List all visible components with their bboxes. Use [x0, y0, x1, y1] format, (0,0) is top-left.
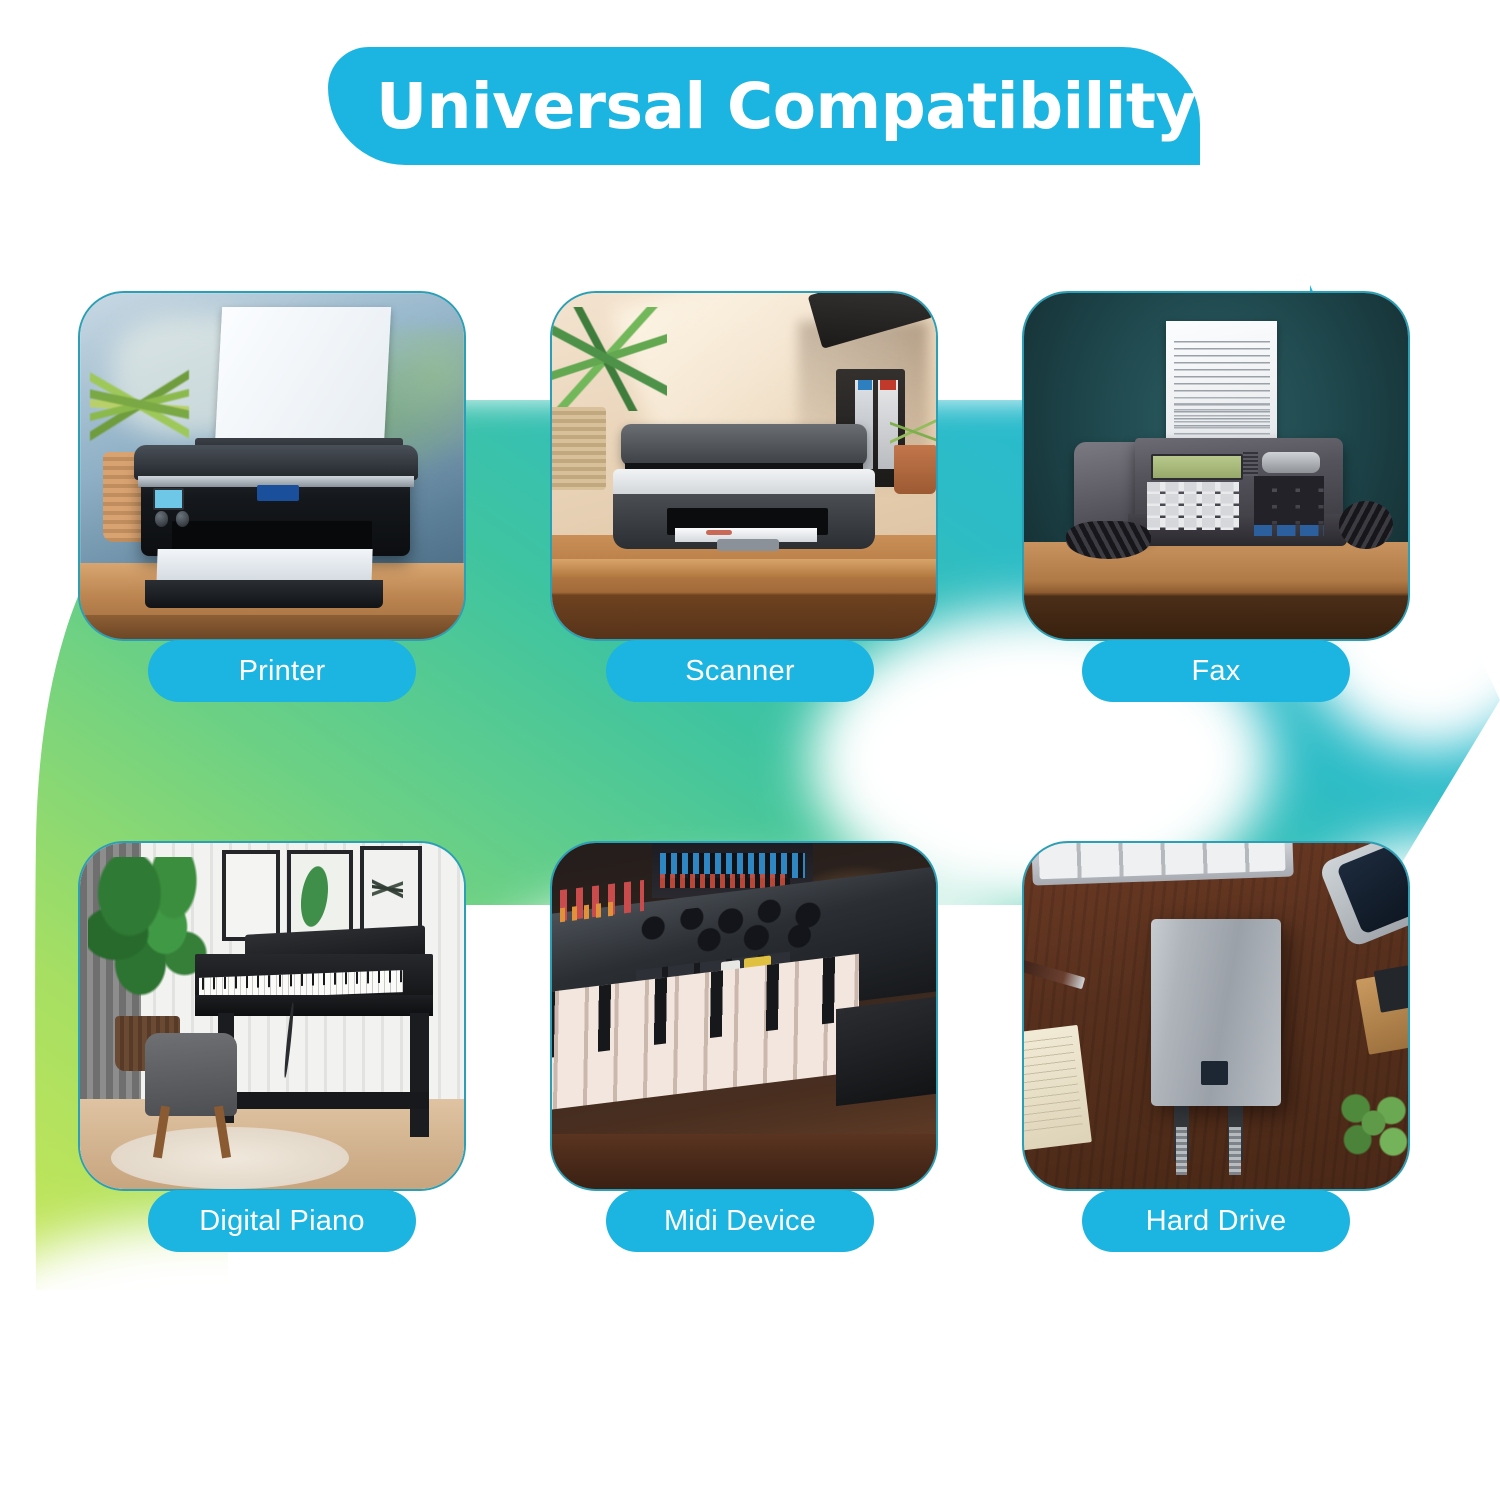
device-label-hard-drive[interactable]: Hard Drive	[1082, 1190, 1350, 1252]
device-label-text: Fax	[1192, 655, 1241, 688]
device-label-text: Digital Piano	[199, 1205, 364, 1238]
hard-drive-icon	[1024, 843, 1408, 1189]
device-label-midi-device[interactable]: Midi Device	[606, 1190, 874, 1252]
digital-piano-icon	[80, 843, 464, 1189]
device-label-text: Printer	[239, 655, 326, 688]
scanner-icon	[552, 293, 936, 639]
device-card-scanner[interactable]	[550, 291, 938, 641]
device-card-printer[interactable]	[78, 291, 466, 641]
device-card-midi-device[interactable]	[550, 841, 938, 1191]
device-label-digital-piano[interactable]: Digital Piano	[148, 1190, 416, 1252]
device-card-hard-drive[interactable]	[1022, 841, 1410, 1191]
midi-device-icon	[552, 843, 936, 1189]
device-label-text: Scanner	[685, 655, 794, 688]
device-grid: Printer Scanner Fax Digital Piano Midi D…	[0, 0, 1500, 1500]
device-card-fax[interactable]	[1022, 291, 1410, 641]
fax-icon	[1024, 293, 1408, 639]
printer-icon	[80, 293, 464, 639]
device-label-text: Midi Device	[664, 1205, 816, 1238]
device-label-printer[interactable]: Printer	[148, 640, 416, 702]
device-label-fax[interactable]: Fax	[1082, 640, 1350, 702]
device-card-digital-piano[interactable]	[78, 841, 466, 1191]
device-label-scanner[interactable]: Scanner	[606, 640, 874, 702]
device-label-text: Hard Drive	[1146, 1205, 1287, 1238]
infographic-canvas: Universal Compatibility	[0, 0, 1500, 1500]
page-title: Universal Compatibility	[376, 75, 1196, 138]
page-title-banner: Universal Compatibility	[328, 47, 1200, 165]
